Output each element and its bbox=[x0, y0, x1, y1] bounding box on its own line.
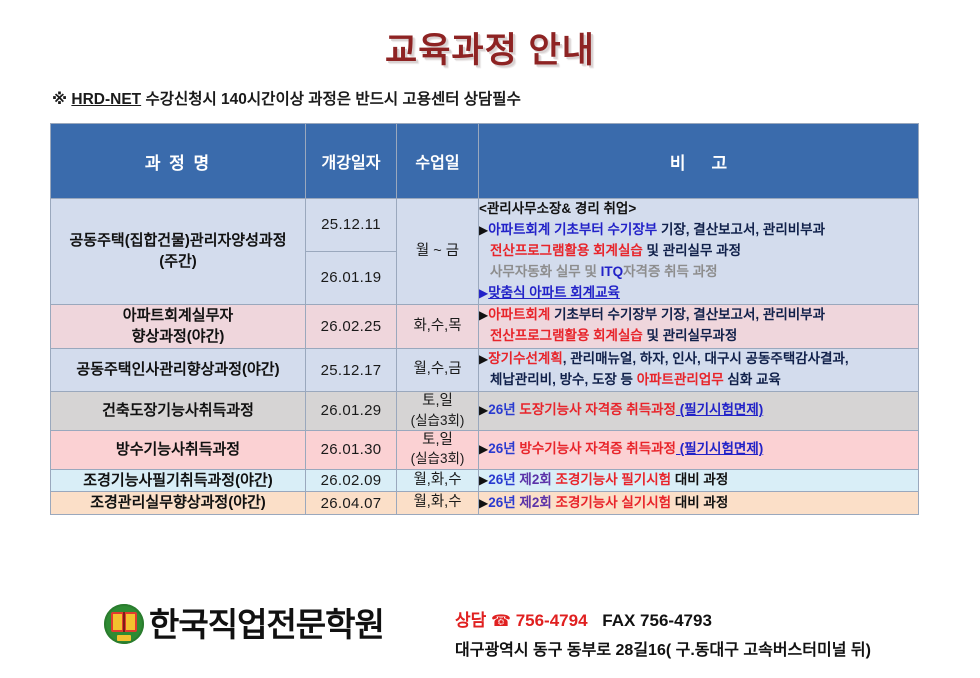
remarks-line: ▶아파트회계 기초부터 수기장부 기장, 결산보고서, 관리비부과 bbox=[479, 305, 918, 326]
bullet-triangle-icon: ▶ bbox=[479, 286, 488, 300]
remarks-text: (필기시험면제) bbox=[676, 402, 763, 417]
class-days-cell: 토,일(실습3회) bbox=[397, 391, 479, 430]
remarks-line: 전산프로그램활용 회계실습 및 관리실무 과정 bbox=[479, 241, 918, 262]
class-days-cell: 월,화,수 bbox=[397, 492, 479, 515]
course-name-line: 조경기능사필기취득과정(야간) bbox=[51, 470, 305, 492]
course-name-line: 공동주택(집합건물)관리자양성과정 bbox=[51, 230, 305, 252]
class-days-sub: (실습3회) bbox=[397, 412, 478, 430]
remarks-cell: ▶26년 방수기능사 자격증 취득과정 (필기시험면제) bbox=[479, 430, 919, 469]
remarks-text: 조경기능사 필기시험 bbox=[552, 472, 671, 487]
remarks-text: 제2회 bbox=[516, 495, 552, 510]
class-days-main: 월,화,수 bbox=[397, 493, 478, 513]
remarks-text: 도장기능사 자격증 취득과정 bbox=[516, 402, 676, 417]
bullet-triangle-icon: ▶ bbox=[479, 223, 488, 237]
course-name-line: 방수기능사취득과정 bbox=[51, 439, 305, 461]
address-line: 대구광역시 동구 동부로 28길16( 구.동대구 고속버스터미널 뒤) bbox=[455, 636, 871, 660]
remarks-text: , 관리매뉴얼, 하자, 인사, 대구시 공동주택감사결과, bbox=[563, 351, 849, 366]
class-days-cell: 화,수,목 bbox=[397, 304, 479, 349]
remarks-text: 맞춤식 아파트 회계교육 bbox=[488, 285, 620, 300]
column-header-class-days: 수업일 bbox=[397, 124, 479, 199]
remarks-cell: ▶26년 제2회 조경기능사 실기시험 대비 과정 bbox=[479, 492, 919, 515]
contact-info: 상담 ☎ 756-4794 FAX 756-4793 대구광역시 동구 동부로 … bbox=[455, 606, 871, 660]
class-days-main: 월,수,금 bbox=[397, 360, 478, 380]
remarks-text: 기초부터 수기장부 기장, 결산보고서, 관리비부과 bbox=[550, 307, 825, 322]
bullet-triangle-icon: ▶ bbox=[479, 496, 488, 510]
bullet-triangle-icon: ▶ bbox=[479, 352, 488, 366]
remarks-text: 장기수선계획 bbox=[488, 351, 563, 366]
course-name-line: 건축도장기능사취득과정 bbox=[51, 400, 305, 422]
remarks-text: 제2회 bbox=[516, 472, 552, 487]
page-title: 교육과정 안내 bbox=[385, 22, 595, 73]
start-date-cell: 26.01.29 bbox=[306, 391, 397, 430]
class-days-cell: 월,화,수 bbox=[397, 469, 479, 492]
notice-hrdnet-label: HRD-NET bbox=[71, 91, 141, 108]
table-row: 방수기능사취득과정26.01.30토,일(실습3회)▶26년 방수기능사 자격증… bbox=[51, 430, 919, 469]
telephone-icon: ☎ bbox=[491, 613, 511, 630]
notice-line: ※ HRD-NET 수강신청시 140시간이상 과정은 반드시 고용센터 상담필… bbox=[52, 87, 980, 109]
remarks-line: 체납관리비, 방수, 도장 등 아파트관리업무 심화 교육 bbox=[479, 370, 918, 391]
remarks-cell: <관리사무소장& 경리 취업>▶아파트회계 기초부터 수기장부 기장, 결산보고… bbox=[479, 199, 919, 305]
course-name-line: 공동주택인사관리향상과정(야간) bbox=[51, 359, 305, 381]
remarks-text: 사무자동화 실무 및 bbox=[490, 264, 601, 279]
bullet-triangle-icon: ▶ bbox=[479, 473, 488, 487]
notice-text: 수강신청시 140시간이상 과정은 반드시 고용센터 상담필수 bbox=[145, 91, 520, 108]
remarks-line: ▶26년 제2회 조경기능사 실기시험 대비 과정 bbox=[479, 493, 918, 514]
course-name-cell: 조경관리실무향상과정(야간) bbox=[51, 492, 306, 515]
class-days-cell: 월 ~ 금 bbox=[397, 199, 479, 305]
remarks-text: 전산프로그램활용 회계실습 bbox=[490, 328, 643, 343]
start-date-cell: 25.12.17 bbox=[306, 349, 397, 392]
course-table-wrapper: 과 정 명 개강일자 수업일 비고 공동주택(집합건물)관리자양성과정(주간)2… bbox=[50, 123, 918, 515]
remarks-text: 아파트회계 기초부터 수기장부 bbox=[488, 222, 657, 237]
academy-logo: 한국직업전문학원 bbox=[104, 604, 384, 644]
course-name-line: (주간) bbox=[51, 251, 305, 273]
remarks-text: 26년 bbox=[488, 402, 515, 417]
start-date-cell: 26.04.07 bbox=[306, 492, 397, 515]
remarks-cell: ▶아파트회계 기초부터 수기장부 기장, 결산보고서, 관리비부과전산프로그램활… bbox=[479, 304, 919, 349]
remarks-cell: ▶26년 도장기능사 자격증 취득과정 (필기시험면제) bbox=[479, 391, 919, 430]
class-days-main: 토,일 bbox=[397, 392, 478, 412]
remarks-text: 아파트관리업무 bbox=[637, 372, 724, 387]
class-days-main: 월 ~ 금 bbox=[397, 242, 478, 262]
remarks-line: 전산프로그램활용 회계실습 및 관리실무과정 bbox=[479, 326, 918, 347]
phone-number: 756-4794 bbox=[516, 611, 588, 630]
table-row: 조경관리실무향상과정(야간)26.04.07월,화,수▶26년 제2회 조경기능… bbox=[51, 492, 919, 515]
class-days-cell: 토,일(실습3회) bbox=[397, 430, 479, 469]
notice-mark-icon: ※ bbox=[52, 91, 67, 108]
footer-section: 한국직업전문학원 상담 ☎ 756-4794 FAX 756-4793 대구광역… bbox=[0, 596, 980, 678]
remarks-line: ▶장기수선계획, 관리매뉴얼, 하자, 인사, 대구시 공동주택감사결과, bbox=[479, 349, 918, 370]
course-name-cell: 조경기능사필기취득과정(야간) bbox=[51, 469, 306, 492]
remarks-cell: ▶26년 제2회 조경기능사 필기시험 대비 과정 bbox=[479, 469, 919, 492]
class-days-main: 월,화,수 bbox=[397, 471, 478, 491]
course-name-cell: 건축도장기능사취득과정 bbox=[51, 391, 306, 430]
remarks-line: <관리사무소장& 경리 취업> bbox=[479, 199, 918, 220]
course-name-cell: 공동주택(집합건물)관리자양성과정(주간) bbox=[51, 199, 306, 305]
remarks-text: 자격증 취득 과정 bbox=[623, 264, 717, 279]
remarks-text: 방수기능사 자격증 취득과정 bbox=[516, 441, 676, 456]
course-name-cell: 아파트회계실무자향상과정(야간) bbox=[51, 304, 306, 349]
remarks-text: 대비 과정 bbox=[671, 472, 728, 487]
remarks-line: ▶맞춤식 아파트 회계교육 bbox=[479, 283, 918, 304]
column-header-start-date: 개강일자 bbox=[306, 124, 397, 199]
remarks-text: 26년 bbox=[488, 495, 515, 510]
class-days-main: 화,수,목 bbox=[397, 317, 478, 337]
remarks-text: 조경기능사 실기시험 bbox=[552, 495, 671, 510]
remarks-line: 사무자동화 실무 및 ITQ자격증 취득 과정 bbox=[479, 262, 918, 283]
remarks-text: 심화 교육 bbox=[724, 372, 781, 387]
remarks-text: (필기시험면제) bbox=[676, 441, 763, 456]
remarks-line: ▶26년 방수기능사 자격증 취득과정 (필기시험면제) bbox=[479, 439, 918, 460]
table-body: 공동주택(집합건물)관리자양성과정(주간)25.12.11월 ~ 금<관리사무소… bbox=[51, 199, 919, 515]
remarks-text: 26년 bbox=[488, 441, 515, 456]
remarks-text: ITQ bbox=[601, 264, 624, 279]
column-header-remarks-left: 비 bbox=[670, 154, 686, 173]
start-date-cell: 25.12.11 bbox=[306, 199, 397, 252]
notice-section: ※ HRD-NET 수강신청시 140시간이상 과정은 반드시 고용센터 상담필… bbox=[0, 73, 980, 109]
table-header-row: 과 정 명 개강일자 수업일 비고 bbox=[51, 124, 919, 199]
start-date-cell: 26.01.19 bbox=[306, 251, 397, 304]
academy-name: 한국직업전문학원 bbox=[149, 608, 384, 641]
remarks-line: ▶26년 제2회 조경기능사 필기시험 대비 과정 bbox=[479, 470, 918, 491]
start-date-cell: 26.02.25 bbox=[306, 304, 397, 349]
course-name-line: 아파트회계실무자 bbox=[51, 305, 305, 327]
bullet-triangle-icon: ▶ bbox=[479, 308, 488, 322]
remarks-text: 26년 bbox=[488, 472, 515, 487]
remarks-text: 및 관리실무 과정 bbox=[643, 243, 741, 258]
remarks-text: 체납관리비, 방수, 도장 등 bbox=[490, 372, 637, 387]
remarks-line: ▶26년 도장기능사 자격증 취득과정 (필기시험면제) bbox=[479, 400, 918, 421]
remarks-text: 전산프로그램활용 회계실습 bbox=[490, 243, 643, 258]
remarks-text: 대비 과정 bbox=[671, 495, 728, 510]
remarks-text: 아파트회계 bbox=[488, 307, 550, 322]
remarks-text: 및 관리실무과정 bbox=[643, 328, 737, 343]
class-days-cell: 월,수,금 bbox=[397, 349, 479, 392]
column-header-remarks: 비고 bbox=[479, 124, 919, 199]
course-name-line: 향상과정(야간) bbox=[51, 326, 305, 348]
course-name-cell: 공동주택인사관리향상과정(야간) bbox=[51, 349, 306, 392]
remarks-text: 기장, 결산보고서, 관리비부과 bbox=[657, 222, 825, 237]
start-date-cell: 26.02.09 bbox=[306, 469, 397, 492]
bullet-triangle-icon: ▶ bbox=[479, 442, 488, 456]
table-row: 공동주택인사관리향상과정(야간)25.12.17월,수,금▶장기수선계획, 관리… bbox=[51, 349, 919, 392]
class-days-main: 토,일 bbox=[397, 431, 478, 451]
remarks-line: ▶아파트회계 기초부터 수기장부 기장, 결산보고서, 관리비부과 bbox=[479, 220, 918, 241]
table-row: 아파트회계실무자향상과정(야간)26.02.25화,수,목▶아파트회계 기초부터… bbox=[51, 304, 919, 349]
title-section: 교육과정 안내 bbox=[0, 0, 980, 73]
start-date-cell: 26.01.30 bbox=[306, 430, 397, 469]
consult-label: 상담 bbox=[455, 611, 486, 630]
fax-number: FAX 756-4793 bbox=[602, 611, 712, 630]
course-name-line: 조경관리실무향상과정(야간) bbox=[51, 492, 305, 514]
course-table: 과 정 명 개강일자 수업일 비고 공동주택(집합건물)관리자양성과정(주간)2… bbox=[50, 123, 919, 515]
class-days-sub: (실습3회) bbox=[397, 450, 478, 468]
phone-line: 상담 ☎ 756-4794 FAX 756-4793 bbox=[455, 606, 871, 631]
column-header-name: 과 정 명 bbox=[51, 124, 306, 199]
remarks-cell: ▶장기수선계획, 관리매뉴얼, 하자, 인사, 대구시 공동주택감사결과,체납관… bbox=[479, 349, 919, 392]
table-header: 과 정 명 개강일자 수업일 비고 bbox=[51, 124, 919, 199]
table-row: 건축도장기능사취득과정26.01.29토,일(실습3회)▶26년 도장기능사 자… bbox=[51, 391, 919, 430]
book-laurel-emblem-icon bbox=[104, 604, 144, 644]
course-name-cell: 방수기능사취득과정 bbox=[51, 430, 306, 469]
remarks-text: <관리사무소장& 경리 취업> bbox=[479, 201, 636, 216]
table-row: 조경기능사필기취득과정(야간)26.02.09월,화,수▶26년 제2회 조경기… bbox=[51, 469, 919, 492]
table-row: 공동주택(집합건물)관리자양성과정(주간)25.12.11월 ~ 금<관리사무소… bbox=[51, 199, 919, 252]
bullet-triangle-icon: ▶ bbox=[479, 403, 488, 417]
column-header-remarks-right: 고 bbox=[712, 154, 728, 173]
